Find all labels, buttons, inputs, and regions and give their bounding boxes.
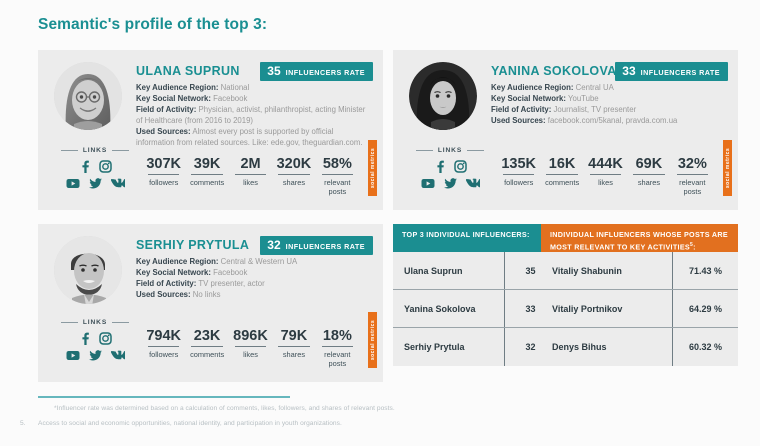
rate-label: INFLUENCERS RATE <box>641 69 720 76</box>
stat-value: 39K <box>187 156 226 174</box>
stat-underline <box>191 346 222 347</box>
profile-name: YANINA SOKOLOVA <box>491 64 617 78</box>
stat-underline <box>148 346 179 347</box>
stat-likes: 444K likes <box>584 156 627 187</box>
vk-icon[interactable] <box>111 178 125 189</box>
social-icons-row-1 <box>54 160 136 173</box>
stats-row: 307K followers 39K comments 2M likes 320… <box>142 156 359 196</box>
stat-caption: likes <box>231 178 270 187</box>
stat-relevant-posts: 18% relevant posts <box>316 328 359 368</box>
detail-value-network: Facebook <box>213 94 247 103</box>
instagram-icon[interactable] <box>99 332 112 345</box>
detail-field: Field of Activity: Journalist, TV presen… <box>491 104 728 115</box>
social-icons-row-1 <box>409 160 491 173</box>
table-header: INDIVIDUAL INFLUENCERS WHOSE POSTS ARE M… <box>541 224 738 252</box>
table-row: Vitaliy Portnikov 64.29 % <box>541 290 738 328</box>
stat-underline <box>322 174 353 175</box>
stat-underline <box>503 174 534 175</box>
youtube-icon[interactable] <box>66 350 80 361</box>
table-header-suffix: : <box>693 242 696 251</box>
links-heading: LINKS <box>409 147 491 154</box>
slide-root: Semantic's profile of the top 3: <box>0 0 760 446</box>
stat-caption: shares <box>274 350 313 359</box>
twitter-icon[interactable] <box>444 178 457 189</box>
detail-network: Key Social Network: YouTube <box>491 93 728 104</box>
stat-relevant-posts: 58% relevant posts <box>316 156 359 196</box>
stat-shares: 79K shares <box>272 328 315 359</box>
detail-field: Field of Activity: Physician, activist, … <box>136 104 373 126</box>
table-header-text: INDIVIDUAL INFLUENCERS WHOSE POSTS ARE M… <box>550 230 728 251</box>
detail-sources: Used Sources: Almost every post is suppo… <box>136 126 373 148</box>
stat-caption: comments <box>542 178 581 187</box>
stat-value: 32% <box>673 156 712 174</box>
detail-network: Key Social Network: Facebook <box>136 267 373 278</box>
stat-caption: followers <box>499 178 538 187</box>
rate-value: 33 <box>622 65 635 77</box>
stat-comments: 16K comments <box>540 156 583 187</box>
social-metrics-tab-label: social metrics <box>725 148 731 188</box>
stat-followers: 794K followers <box>142 328 185 359</box>
influencer-rate-badge: 33 INFLUENCERS RATE <box>615 62 728 81</box>
stat-caption: followers <box>144 178 183 187</box>
stat-value: 79K <box>274 328 313 346</box>
stat-underline <box>235 174 266 175</box>
social-metrics-tab-label: social metrics <box>370 148 376 188</box>
rate-label: INFLUENCERS RATE <box>286 69 365 76</box>
stat-underline <box>590 174 621 175</box>
stat-comments: 39K comments <box>185 156 228 187</box>
table-row: Yanina Sokolova 33 <box>393 290 556 328</box>
social-icons-row-1 <box>54 332 136 345</box>
links-dash-left <box>61 322 78 323</box>
stat-value: 18% <box>318 328 357 346</box>
stat-value: 444K <box>586 156 625 174</box>
footnote-influencer-rate: *Influencer rate was determined based on… <box>54 405 395 412</box>
stat-value: 307K <box>144 156 183 174</box>
vk-icon[interactable] <box>111 350 125 361</box>
social-metrics-tab: social metrics <box>368 312 377 368</box>
detail-sources: Used Sources: No links <box>136 289 373 300</box>
social-metrics-tab: social metrics <box>368 140 377 196</box>
twitter-icon[interactable] <box>89 350 102 361</box>
stat-likes: 896K likes <box>229 328 272 359</box>
instagram-icon[interactable] <box>99 160 112 173</box>
stat-value: 896K <box>231 328 270 346</box>
facebook-icon[interactable] <box>79 160 90 173</box>
stat-value: 135K <box>499 156 538 174</box>
table-row: Serhiy Prytula 32 <box>393 328 556 366</box>
stat-underline <box>191 174 222 175</box>
links-dash-left <box>61 150 78 151</box>
detail-label-sources: Used Sources: <box>136 290 191 299</box>
social-icons-row-2 <box>54 350 136 361</box>
social-icons-row-2 <box>54 178 136 189</box>
footnote-index: 5. <box>20 420 38 427</box>
facebook-icon[interactable] <box>434 160 445 173</box>
detail-region: Key Audience Region: National <box>136 82 373 93</box>
table-cell-value: 71.43 % <box>672 252 738 289</box>
profile-name: ULANA SUPRUN <box>136 64 240 78</box>
detail-network: Key Social Network: Facebook <box>136 93 373 104</box>
stats-row: 794K followers 23K comments 896K likes 7… <box>142 328 359 368</box>
avatar <box>54 236 122 304</box>
facebook-icon[interactable] <box>79 332 90 345</box>
detail-label-sources: Used Sources: <box>136 127 191 136</box>
youtube-icon[interactable] <box>66 178 80 189</box>
detail-value-network: YouTube <box>568 94 599 103</box>
stat-underline <box>322 346 353 347</box>
links-heading: LINKS <box>54 147 136 154</box>
avatar <box>409 62 477 130</box>
stat-followers: 135K followers <box>497 156 540 187</box>
stat-underline <box>235 346 266 347</box>
stat-underline <box>278 174 309 175</box>
stat-value: 320K <box>274 156 313 174</box>
influencer-rate-badge: 35 INFLUENCERS RATE <box>260 62 373 81</box>
stat-value: 2M <box>231 156 270 174</box>
links-label: LINKS <box>438 147 462 154</box>
profile-name: SERHIY PRYTULA <box>136 238 249 252</box>
profile-card-yanina-sokolova: YANINA SOKOLOVA 33 INFLUENCERS RATE Key … <box>393 50 738 210</box>
stat-caption: comments <box>187 178 226 187</box>
stat-caption: relevant posts <box>318 178 357 196</box>
detail-label-region: Key Audience Region: <box>136 83 218 92</box>
detail-field: Field of Activity: TV presenter, actor <box>136 278 373 289</box>
stat-underline <box>278 346 309 347</box>
stat-underline <box>677 174 708 175</box>
stat-relevant-posts: 32% relevant posts <box>671 156 714 196</box>
table-row: Denys Bihus 60.32 % <box>541 328 738 366</box>
youtube-icon[interactable] <box>421 178 435 189</box>
influencer-rate-badge: 32 INFLUENCERS RATE <box>260 236 373 255</box>
profile-details: Key Audience Region: Central UA Key Soci… <box>491 82 728 126</box>
profile-details: Key Audience Region: National Key Social… <box>136 82 373 149</box>
table-top3-influencers: TOP 3 INDIVIDUAL INFLUENCERS: Ulana Supr… <box>393 224 556 366</box>
detail-label-network: Key Social Network: <box>136 268 211 277</box>
stat-underline <box>148 174 179 175</box>
rate-value: 32 <box>267 239 280 251</box>
links-dash-right <box>112 150 129 151</box>
detail-label-sources: Used Sources: <box>491 116 546 125</box>
instagram-icon[interactable] <box>454 160 467 173</box>
detail-region: Key Audience Region: Central & Western U… <box>136 256 373 267</box>
table-cell-name: Ulana Suprun <box>393 266 504 276</box>
stat-value: 69K <box>629 156 668 174</box>
links-block: LINKS <box>54 147 136 194</box>
table-cell-name: Yanina Sokolova <box>393 304 504 314</box>
table-cell-name: Vitaliy Portnikov <box>541 304 672 314</box>
table-cell-name: Denys Bihus <box>541 342 672 352</box>
stat-underline <box>633 174 664 175</box>
stat-caption: shares <box>629 178 668 187</box>
detail-value-sources: facebook.com/5kanal, pravda.com.ua <box>548 116 678 125</box>
stat-caption: comments <box>187 350 226 359</box>
footnote-text: Access to social and economic opportunit… <box>38 420 342 427</box>
stats-row: 135K followers 16K comments 444K likes 6… <box>497 156 714 196</box>
stat-likes: 2M likes <box>229 156 272 187</box>
stat-comments: 23K comments <box>185 328 228 359</box>
table-row: Ulana Suprun 35 <box>393 252 556 290</box>
stat-caption: followers <box>144 350 183 359</box>
stat-followers: 307K followers <box>142 156 185 187</box>
table-cell-value: 64.29 % <box>672 290 738 327</box>
links-block: LINKS <box>409 147 491 194</box>
stat-value: 58% <box>318 156 357 174</box>
stat-shares: 69K shares <box>627 156 670 187</box>
detail-label-field: Field of Activity: <box>136 279 196 288</box>
stat-value: 23K <box>187 328 226 346</box>
stat-value: 794K <box>144 328 183 346</box>
stat-caption: relevant posts <box>318 350 357 368</box>
stat-caption: shares <box>274 178 313 187</box>
detail-label-region: Key Audience Region: <box>136 257 218 266</box>
detail-label-network: Key Social Network: <box>136 94 211 103</box>
rate-value: 35 <box>267 65 280 77</box>
table-most-relevant-influencers: INDIVIDUAL INFLUENCERS WHOSE POSTS ARE M… <box>541 224 738 366</box>
links-dash-right <box>112 322 129 323</box>
table-cell-name: Vitaliy Shabunin <box>541 266 672 276</box>
links-dash-right <box>467 150 484 151</box>
detail-value-region: Central & Western UA <box>221 257 298 266</box>
detail-value-region: National <box>221 83 250 92</box>
stat-caption: likes <box>586 178 625 187</box>
table-row: Vitaliy Shabunin 71.43 % <box>541 252 738 290</box>
table-cell-value: 60.32 % <box>672 328 738 366</box>
links-dash-left <box>416 150 433 151</box>
stat-caption: relevant posts <box>673 178 712 196</box>
detail-label-field: Field of Activity: <box>136 105 196 114</box>
footer-divider <box>38 396 290 398</box>
profile-details: Key Audience Region: Central & Western U… <box>136 256 373 300</box>
social-metrics-tab: social metrics <box>723 140 732 196</box>
links-heading: LINKS <box>54 319 136 326</box>
stat-shares: 320K shares <box>272 156 315 187</box>
avatar <box>54 62 122 130</box>
detail-sources: Used Sources: facebook.com/5kanal, pravd… <box>491 115 728 126</box>
footnote-item-5: 5.Access to social and economic opportun… <box>20 420 342 427</box>
detail-value-network: Facebook <box>213 268 247 277</box>
page-title: Semantic's profile of the top 3: <box>38 16 267 34</box>
profile-card-serhiy-prytula: SERHIY PRYTULA 32 INFLUENCERS RATE Key A… <box>38 224 383 382</box>
links-label: LINKS <box>83 147 107 154</box>
detail-value-sources: No links <box>193 290 221 299</box>
detail-label-region: Key Audience Region: <box>491 83 573 92</box>
links-label: LINKS <box>83 319 107 326</box>
table-header: TOP 3 INDIVIDUAL INFLUENCERS: <box>393 224 556 252</box>
profile-card-ulana-suprun: ULANA SUPRUN 35 INFLUENCERS RATE Key Aud… <box>38 50 383 210</box>
twitter-icon[interactable] <box>89 178 102 189</box>
stat-underline <box>546 174 577 175</box>
table-cell-name: Serhiy Prytula <box>393 342 504 352</box>
stat-value: 16K <box>542 156 581 174</box>
detail-region: Key Audience Region: Central UA <box>491 82 728 93</box>
links-block: LINKS <box>54 319 136 366</box>
social-metrics-tab-label: social metrics <box>370 320 376 360</box>
rate-label: INFLUENCERS RATE <box>286 243 365 250</box>
detail-value-field: Journalist, TV presenter <box>554 105 637 114</box>
stat-caption: likes <box>231 350 270 359</box>
detail-label-field: Field of Activity: <box>491 105 551 114</box>
vk-icon[interactable] <box>466 178 480 189</box>
detail-value-field: TV presenter, actor <box>198 279 264 288</box>
detail-label-network: Key Social Network: <box>491 94 566 103</box>
social-icons-row-2 <box>409 178 491 189</box>
detail-value-region: Central UA <box>576 83 614 92</box>
